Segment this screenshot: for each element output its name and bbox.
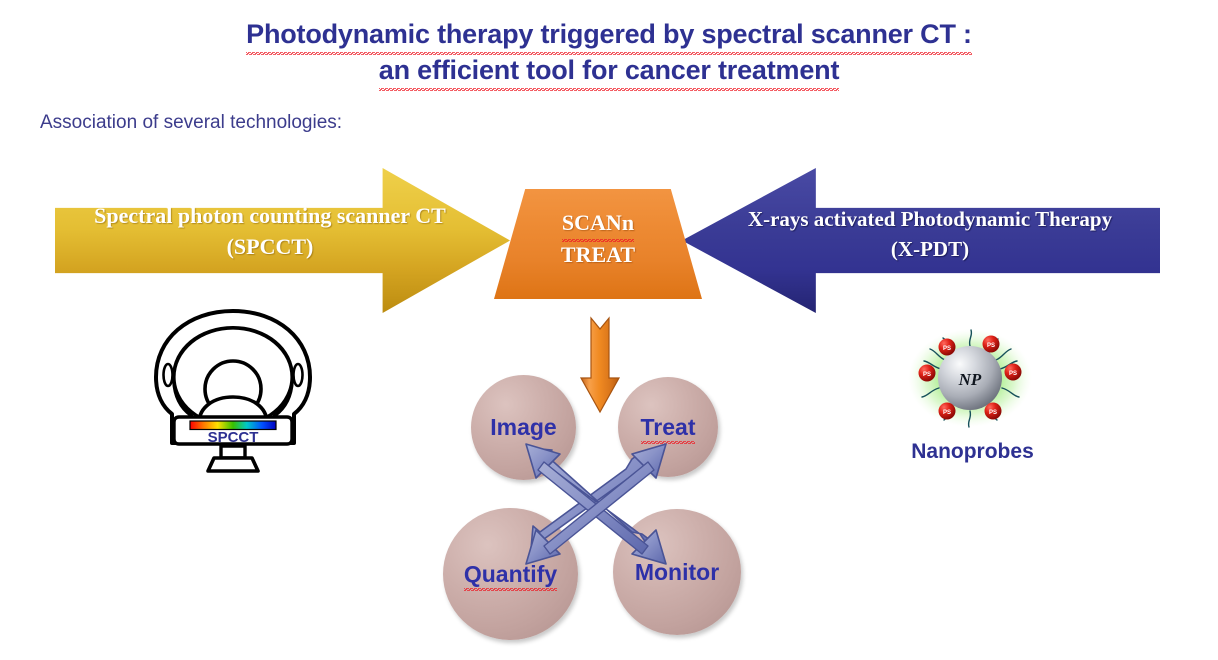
subtitle-text: Association of several technologies: — [40, 112, 342, 134]
scanner-label: SPCCT — [208, 429, 259, 446]
ct-scanner-icon: SPCCT — [142, 303, 324, 475]
center-block-line-2: TREAT — [494, 239, 702, 271]
svg-text:PS: PS — [943, 410, 951, 416]
arrow-down-icon — [578, 316, 622, 416]
svg-text:PS: PS — [989, 410, 997, 416]
right-arrow-label: X-rays activated Photodynamic Therapy (X… — [710, 204, 1150, 264]
svg-text:PS: PS — [943, 346, 951, 352]
right-arrow-line-2: (X-PDT) — [710, 234, 1150, 264]
page-title: Photodynamic therapy triggered by spectr… — [0, 16, 1218, 88]
left-arrow-label: Spectral photon counting scanner CT (SPC… — [60, 200, 480, 262]
center-block-line-1-text: SCANn — [562, 207, 634, 239]
title-line-1: Photodynamic therapy triggered by spectr… — [0, 16, 1218, 52]
svg-text:PS: PS — [987, 343, 995, 349]
center-block-line-1: SCANn — [494, 207, 702, 239]
left-arrow-line-1: Spectral photon counting scanner CT — [60, 200, 480, 231]
title-line-2: an efficient tool for cancer treatment — [0, 52, 1218, 88]
double-headed-cross-arrows-icon — [522, 440, 670, 568]
svg-text:PS: PS — [923, 372, 931, 378]
nanoparticle-core-label: NP — [958, 370, 982, 389]
title-line-1-text: Photodynamic therapy triggered by spectr… — [246, 16, 972, 52]
cycle-label-image: Image — [490, 414, 556, 441]
left-arrow-line-2: (SPCCT) — [60, 231, 480, 262]
title-line-2-text: an efficient tool for cancer treatment — [379, 52, 840, 88]
center-block-label: SCANn TREAT — [494, 207, 702, 271]
right-arrow-line-1: X-rays activated Photodynamic Therapy — [710, 204, 1150, 234]
cycle-label-treat: Treat — [641, 414, 696, 441]
nanoprobes-caption: Nanoprobes — [860, 440, 1085, 464]
nanoparticle-icon: NP PS PS PS PS PS PS — [905, 327, 1035, 429]
svg-text:PS: PS — [1009, 371, 1017, 377]
